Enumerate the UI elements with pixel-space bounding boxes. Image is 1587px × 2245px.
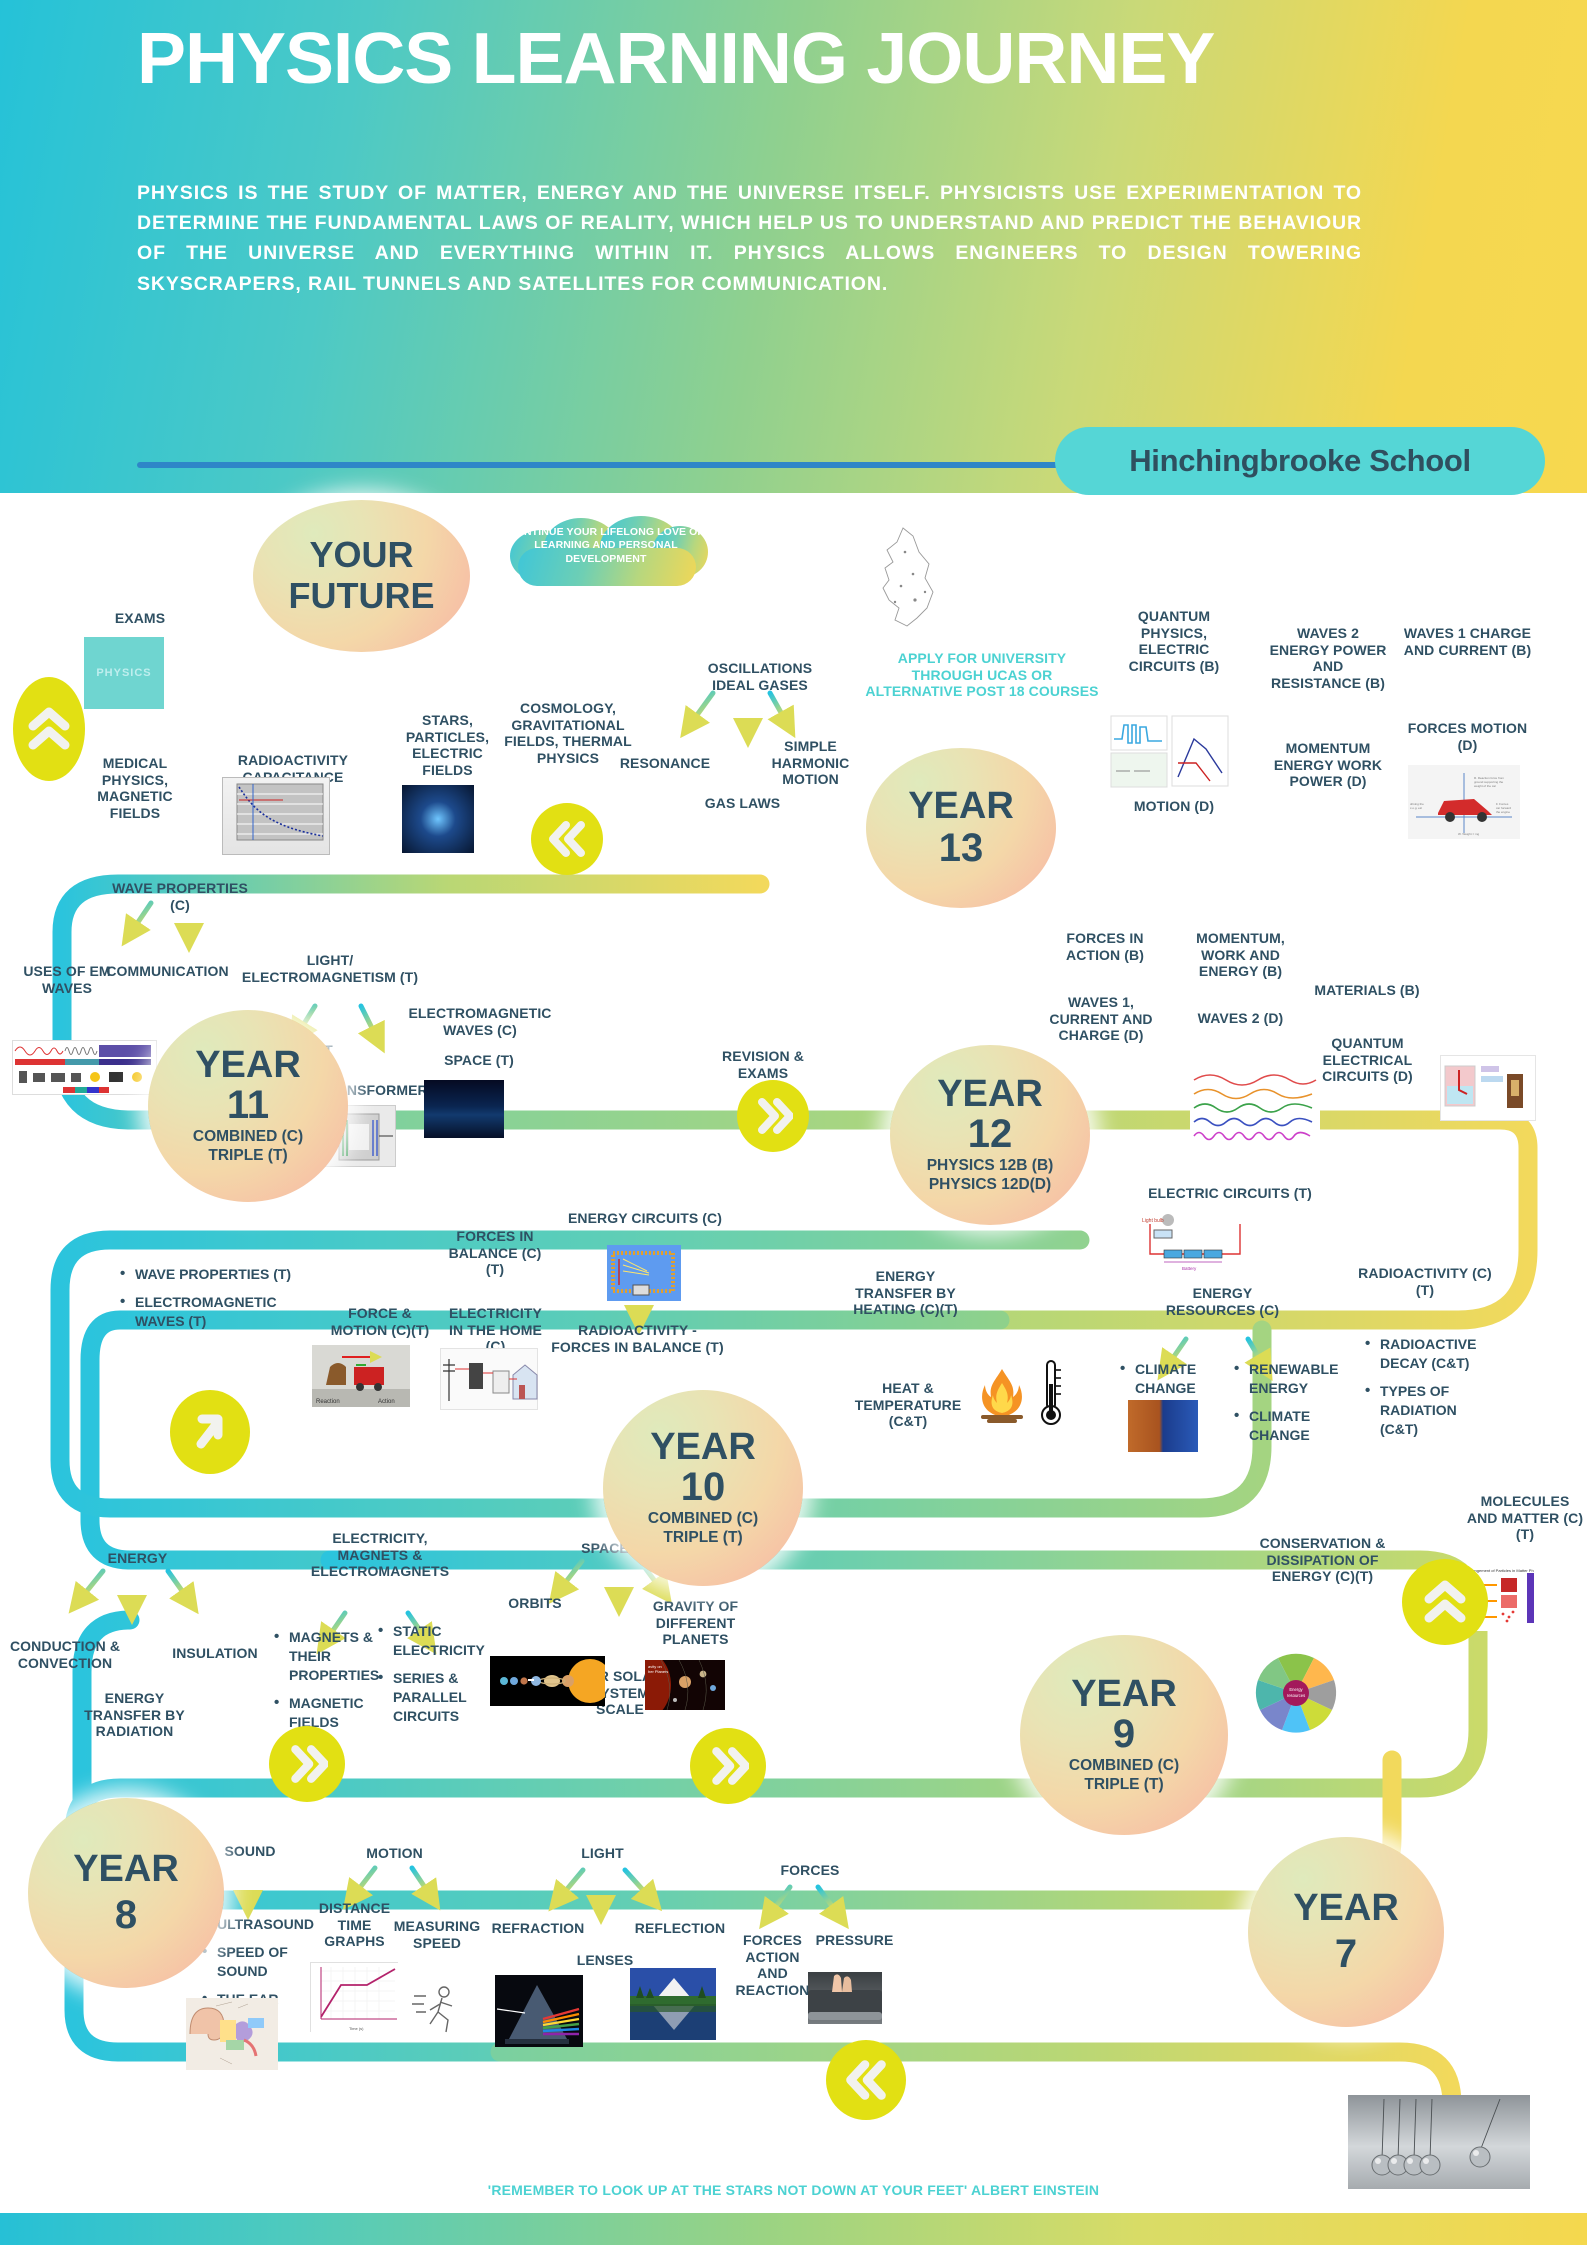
list-item: MAGNETS & THEIR PROPERTIES: [272, 1628, 382, 1685]
label-orbits: ORBITS: [490, 1595, 580, 1612]
label-revision-exams: REVISION & EXAMS: [703, 1048, 823, 1081]
label-molecules-and-matter: MOLECULES AND MATTER (C)(T): [1465, 1493, 1585, 1543]
label-insulation: INSULATION: [165, 1645, 265, 1662]
svg-text:Light bulb: Light bulb: [1142, 1218, 1164, 1224]
thumb-stars-galaxy: [402, 785, 474, 853]
node-year-10-sub2: TRIPLE (T): [663, 1529, 742, 1548]
label-medical-physics: MEDICAL PHYSICS, MAGNETIC FIELDS: [80, 755, 190, 821]
thumb-physics-book: PHYSICS: [84, 637, 164, 709]
label-resonance: RESONANCE: [605, 755, 725, 772]
label-measuring-speed: MEASURING SPEED: [392, 1918, 482, 1951]
node-year-8-num: 8: [115, 1894, 137, 1936]
svg-text:Reaction: Reaction: [316, 1399, 340, 1405]
label-momentum-work-energy: MOMENTUM, WORK AND ENERGY (B): [1178, 930, 1303, 980]
node-year-12-sub1: PHYSICS 12B (B): [927, 1157, 1054, 1176]
thumb-orbits-planets: [490, 1656, 605, 1706]
thumb-energy-circuit: [607, 1245, 681, 1301]
svg-text:Time (s): Time (s): [349, 2026, 364, 2031]
label-electric-circuits-t: ELECTRIC CIRCUITS (T): [1135, 1185, 1325, 1202]
list-item: SERIES & PARALLEL CIRCUITS: [376, 1669, 486, 1726]
node-year-9[interactable]: YEAR 9 COMBINED (C) TRIPLE (T): [1020, 1635, 1228, 1835]
label-em-waves-c: ELECTROMAGNETIC WAVES (C): [405, 1005, 555, 1038]
node-your-future-word: YOUR: [309, 537, 413, 573]
label-heat-temperature: HEAT & TEMPERATURE (C&T): [848, 1380, 968, 1430]
node-year-9-word: YEAR: [1071, 1675, 1177, 1713]
list-item: TYPES OF RADIATION (C&T): [1363, 1382, 1498, 1439]
thumb-space-earth: [424, 1080, 504, 1138]
label-electricity-magnets-electromagnets: ELECTRICITY, MAGNETS & ELECTROMAGNETS: [300, 1530, 460, 1580]
node-year-9-sub2: TRIPLE (T): [1084, 1776, 1163, 1795]
svg-text:W. Weight = mg: W. Weight = mg: [1458, 832, 1480, 836]
y9-static-bullets: STATIC ELECTRICITY SERIES & PARALLEL CIR…: [376, 1622, 486, 1734]
list-item: CLIMATE CHANGE: [1232, 1407, 1342, 1445]
node-year-11-num: 11: [227, 1084, 269, 1126]
label-waves1-current-charge: WAVES 1, CURRENT AND CHARGE (D): [1042, 994, 1160, 1044]
label-lenses: LENSES: [565, 1952, 645, 1969]
thumb-thermometer-icon: [1038, 1358, 1064, 1428]
node-year-12[interactable]: YEAR 12 PHYSICS 12B (B) PHYSICS 12D(D): [890, 1045, 1090, 1225]
node-your-future-num: FUTURE: [289, 577, 435, 615]
lifelong-learning-cloud: CONTINUE YOUR LIFELONG LOVE OF LEARNING …: [500, 516, 710, 586]
label-waves2-energy: WAVES 2 ENERGY POWER AND RESISTANCE (B): [1268, 625, 1388, 691]
y10-radio-bullets: RADIOACTIVE DECAY (C&T) TYPES OF RADIATI…: [1363, 1335, 1498, 1447]
label-ucas: APPLY FOR UNIVERSITY THROUGH UCAS OR ALT…: [862, 650, 1102, 700]
node-year-9-num: 9: [1113, 1713, 1135, 1755]
node-year-12-word: YEAR: [937, 1075, 1043, 1113]
thumb-newtons-cradle: [1348, 2095, 1530, 2189]
footer-gradient-bar: [0, 2213, 1587, 2245]
list-item: WAVE PROPERTIES (T): [118, 1265, 308, 1284]
thumb-pressure-scale: [808, 1972, 882, 2024]
school-name-badge: Hinchingbrooke School: [1055, 427, 1545, 495]
thumb-running-figure: [410, 1980, 472, 2038]
label-waves1-charge: WAVES 1 CHARGE AND CURRENT (B): [1400, 625, 1535, 658]
node-year-11-sub1: COMBINED (C): [193, 1128, 303, 1147]
intro-paragraph: PHYSICS IS THE STUDY OF MATTER, ENERGY A…: [137, 178, 1362, 299]
list-item: ELECTROMAGNETIC WAVES (T): [118, 1293, 308, 1331]
node-year-13[interactable]: YEAR 13: [866, 748, 1056, 908]
label-gas-laws: GAS LAWS: [695, 795, 790, 812]
label-distance-time-graphs: DISTANCE TIME GRAPHS: [312, 1900, 397, 1950]
svg-text:c.o.g. etc: c.o.g. etc: [1410, 806, 1423, 810]
label-space-t: SPACE (T): [424, 1052, 534, 1069]
footer-quote: 'REMEMBER TO LOOK UP AT THE STARS NOT DO…: [0, 2182, 1587, 2198]
label-energy-resources: ENERGY RESOURCES (C): [1155, 1285, 1290, 1318]
header-banner: PHYSICS LEARNING JOURNEY PHYSICS IS THE …: [0, 0, 1587, 493]
label-light-electromagnetism: LIGHT/ ELECTROMAGNETISM (T): [240, 952, 420, 985]
thumb-climate-change: [1128, 1400, 1198, 1452]
thumb-quantum-graphs: [1110, 715, 1230, 789]
thumb-energy-resources-wheel: Energy resources: [1248, 1650, 1344, 1736]
node-year-8[interactable]: YEAR 8: [28, 1798, 224, 1988]
node-year-10-sub1: COMBINED (C): [648, 1510, 758, 1529]
y9-magnets-bullets: MAGNETS & THEIR PROPERTIES MAGNETIC FIEL…: [272, 1628, 382, 1740]
thumb-em-spectrum: [12, 1040, 157, 1095]
label-exams: EXAMS: [85, 610, 195, 627]
chevron-left-year13-icon[interactable]: [531, 803, 603, 875]
cloud-text: CONTINUE YOUR LIFELONG LOVE OF LEARNING …: [506, 526, 706, 566]
label-wave-properties-c: WAVE PROPERTIES (C): [110, 880, 250, 913]
label-refraction: REFRACTION: [488, 1920, 588, 1937]
chevron-up-exams-icon[interactable]: [13, 677, 85, 781]
label-energy-circuits-c: ENERGY CIRCUITS (C): [555, 1210, 735, 1227]
node-year-12-num: 12: [968, 1113, 1013, 1155]
label-oscillations: OSCILLATIONS IDEAL GASES: [690, 660, 830, 693]
label-forces-y7: FORCES: [770, 1862, 850, 1879]
thumb-distance-time-graph: Time (s): [310, 1962, 398, 2032]
thumb-wave-set: [1190, 1068, 1320, 1144]
node-year-11[interactable]: YEAR 11 COMBINED (C) TRIPLE (T): [148, 1010, 348, 1202]
label-simple-harmonic-motion: SIMPLE HARMONIC MOTION: [763, 738, 858, 788]
node-year-9-sub1: COMBINED (C): [1069, 1757, 1179, 1776]
svg-text:Arrangement of Particles in Ma: Arrangement of Particles in Matter Ph: [1467, 1568, 1534, 1573]
svg-text:resources: resources: [1287, 1693, 1305, 1698]
node-year-10-word: YEAR: [650, 1428, 756, 1466]
label-radioactivity-forces-balance: RADIOACTIVITY - FORCES IN BALANCE (T): [550, 1322, 725, 1355]
node-year-8-word: YEAR: [73, 1850, 179, 1888]
list-item: CLIMATE CHANGE: [1118, 1360, 1223, 1398]
node-year-11-sub2: TRIPLE (T): [208, 1147, 287, 1166]
list-item: SPEED OF SOUND: [200, 1943, 320, 1981]
list-item: RENEWABLE ENERGY: [1232, 1360, 1342, 1398]
page-title: PHYSICS LEARNING JOURNEY: [137, 22, 1214, 98]
chevron-right-year9a-icon[interactable]: [269, 1726, 345, 1802]
label-forces-action-reaction: FORCES ACTION AND REACTION: [730, 1932, 815, 1998]
label-force-and-motion: FORCE & MOTION (C)(T): [320, 1305, 440, 1338]
node-year-10-num: 10: [681, 1466, 726, 1508]
label-reflection: REFLECTION: [630, 1920, 730, 1937]
thumb-force-motion: ReactionAction: [312, 1345, 410, 1407]
thumb-reflection-lake: [630, 1968, 716, 2040]
node-year-13-word: YEAR: [908, 787, 1014, 825]
label-sound: SOUND: [205, 1843, 295, 1860]
label-communication: COMMUNICATION: [95, 963, 240, 980]
thumb-decay-graph: [222, 777, 330, 855]
svg-text:weight of the car: weight of the car: [1474, 784, 1496, 788]
list-item: STATIC ELECTRICITY: [376, 1622, 486, 1660]
list-item: RADIOACTIVE DECAY (C&T): [1363, 1335, 1498, 1373]
chevron-right-revision-icon[interactable]: [737, 1080, 809, 1152]
thumb-materials-apparatus: [1440, 1055, 1536, 1121]
thumb-ear-anatomy: [186, 1998, 278, 2070]
label-forces-in-action: FORCES IN ACTION (B): [1050, 930, 1160, 963]
svg-text:her Planets: her Planets: [648, 1669, 668, 1674]
thumb-fire-icon: [975, 1365, 1029, 1425]
label-forces-in-balance: FORCES IN BALANCE (C)(T): [440, 1228, 550, 1278]
node-year-7[interactable]: YEAR 7: [1248, 1837, 1444, 2027]
thumb-prism-refraction: [495, 1975, 583, 2047]
label-stars-particles: STARS, PARTICLES, ELECTRIC FIELDS: [395, 712, 500, 778]
node-year-10[interactable]: YEAR 10 COMBINED (C) TRIPLE (T): [603, 1390, 803, 1586]
label-energy-transfer-radiation: ENERGY TRANSFER BY RADIATION: [82, 1690, 187, 1740]
chevron-right-year9b-icon[interactable]: [690, 1728, 766, 1804]
label-conservation-dissipation: CONSERVATION & DISSIPATION OF ENERGY (C)…: [1245, 1535, 1400, 1585]
label-conduction-convection: CONDUCTION & CONVECTION: [5, 1638, 125, 1671]
svg-text:Energy: Energy: [1289, 1687, 1303, 1692]
label-energy: ENERGY: [95, 1550, 180, 1567]
chevron-up-molecules-icon[interactable]: [1402, 1559, 1488, 1645]
svg-text:Action: Action: [378, 1399, 395, 1405]
label-energy-transfer-heating: ENERGY TRANSFER BY HEATING (C)(T): [838, 1268, 973, 1318]
label-gravity-different-planets: GRAVITY OF DIFFERENT PLANETS: [643, 1598, 748, 1648]
label-quantum-electrical-circuits: QUANTUM ELECTRICAL CIRCUITS (D): [1305, 1035, 1430, 1085]
thumb-electricity-home: [440, 1348, 538, 1410]
y10-renewable-bullets: RENEWABLE ENERGY CLIMATE CHANGE: [1232, 1360, 1342, 1454]
label-pressure: PRESSURE: [812, 1932, 897, 1949]
node-year-11-word: YEAR: [195, 1046, 301, 1084]
label-motion-y8: MOTION: [352, 1845, 437, 1862]
y10-left-bullets: WAVE PROPERTIES (T) ELECTROMAGNETIC WAVE…: [118, 1265, 308, 1340]
svg-text:the engine: the engine: [1496, 810, 1510, 814]
infographic-page: PHYSICS LEARNING JOURNEY PHYSICS IS THE …: [0, 0, 1587, 2245]
node-year-7-word: YEAR: [1293, 1889, 1399, 1927]
label-momentum-energy: MOMENTUM ENERGY WORK POWER (D): [1268, 740, 1388, 790]
chevron-turn-year11-icon[interactable]: [170, 1390, 250, 1474]
node-year-13-num: 13: [939, 827, 984, 869]
node-year-12-sub2: PHYSICS 12D(D): [929, 1176, 1051, 1195]
label-forces-motion-d: FORCES MOTION (D): [1400, 720, 1535, 753]
list-item: MAGNETIC FIELDS: [272, 1694, 382, 1732]
thumb-uk-map: [855, 522, 963, 642]
thumb-electric-circuit-diagram: Light bulbBattery: [1140, 1210, 1250, 1272]
thumb-solar-system-scale: avity onher Planets: [645, 1660, 725, 1710]
label-quantum-physics: QUANTUM PHYSICS, ELECTRIC CIRCUITS (B): [1110, 608, 1238, 674]
chevron-left-year7-icon[interactable]: [826, 2040, 906, 2120]
svg-text:Battery: Battery: [1182, 1266, 1197, 1271]
label-radioactivity-ct: RADIOACTIVITY (C)(T): [1355, 1265, 1495, 1298]
label-motion-d: MOTION (D): [1110, 798, 1238, 815]
label-waves2-d: WAVES 2 (D): [1178, 1010, 1303, 1027]
thumb-forces-car: R. Reaction force fromground supporting …: [1408, 765, 1520, 839]
label-materials-b: MATERIALS (B): [1312, 982, 1422, 999]
node-your-future[interactable]: YOUR FUTURE: [253, 500, 470, 652]
node-year-7-num: 7: [1335, 1933, 1357, 1975]
label-light-y8: LIGHT: [570, 1845, 635, 1862]
